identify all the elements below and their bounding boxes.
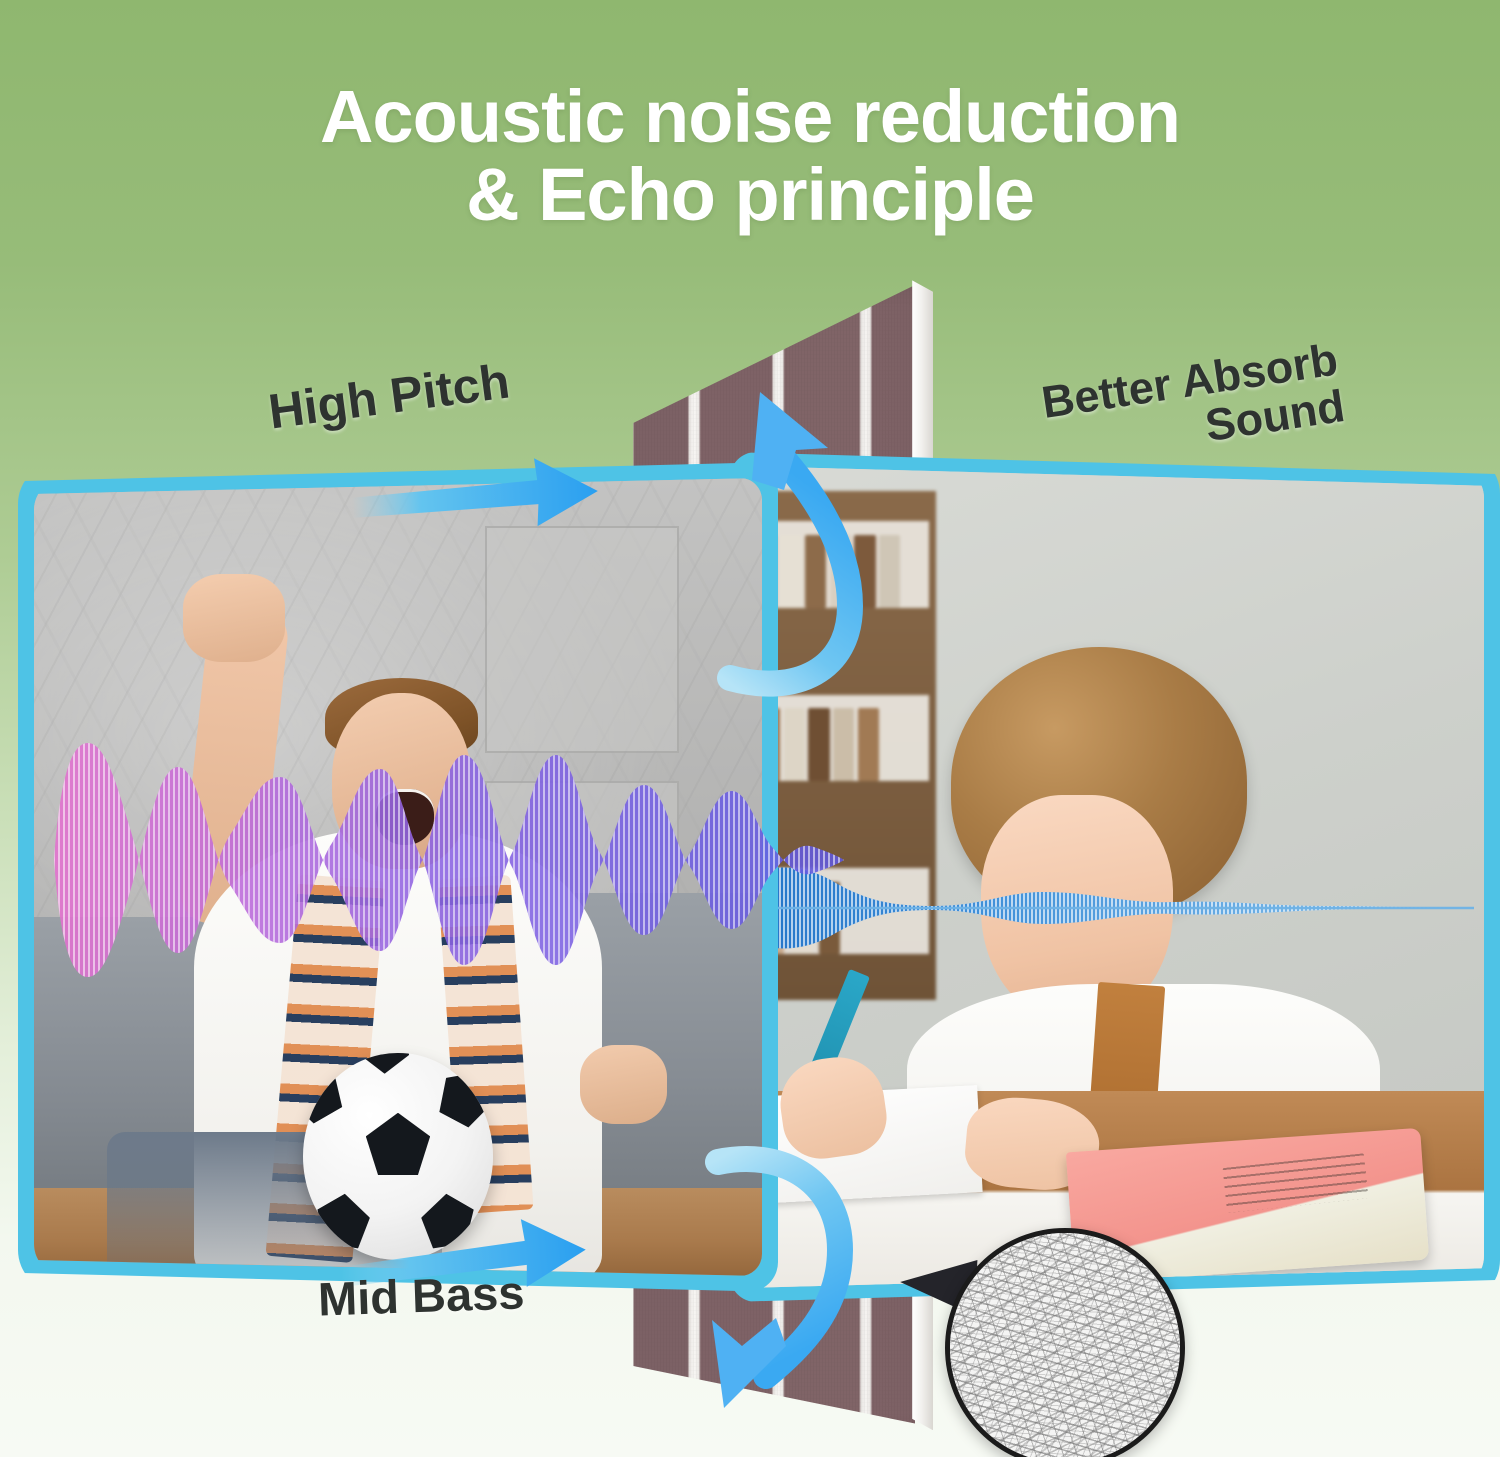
book bbox=[784, 708, 805, 781]
scene-man-cheering bbox=[34, 478, 762, 1276]
polyester-fiber-texture bbox=[945, 1228, 1185, 1457]
book bbox=[808, 708, 829, 781]
book bbox=[780, 535, 801, 608]
ball-panel bbox=[360, 1053, 409, 1074]
book bbox=[830, 535, 851, 608]
title-line-2: & Echo principle bbox=[0, 156, 1500, 234]
book bbox=[791, 882, 812, 955]
ball-panel bbox=[366, 1113, 430, 1175]
wall-art-frame bbox=[485, 526, 678, 753]
book bbox=[879, 535, 900, 608]
page-title: Acoustic noise reduction & Echo principl… bbox=[0, 78, 1500, 235]
infographic-canvas: Acoustic noise reduction & Echo principl… bbox=[0, 0, 1500, 1457]
noisy-man-cheering-photo[interactable] bbox=[18, 462, 778, 1292]
label-high-pitch: High Pitch bbox=[266, 356, 513, 438]
book bbox=[858, 708, 879, 781]
book bbox=[819, 882, 840, 955]
notebook-text-lines bbox=[1222, 1153, 1368, 1212]
soccer-ball bbox=[303, 1053, 492, 1260]
title-line-1: Acoustic noise reduction bbox=[320, 75, 1180, 158]
shelf-row bbox=[752, 695, 929, 782]
man-lower-fist bbox=[580, 1045, 667, 1125]
photo-content-left bbox=[34, 478, 762, 1276]
shelf-row bbox=[752, 521, 929, 608]
scene-boy-studying bbox=[744, 466, 1484, 1288]
book bbox=[833, 708, 854, 781]
shelf-row bbox=[752, 868, 929, 955]
book bbox=[805, 535, 826, 608]
man-raised-fist bbox=[183, 574, 285, 662]
label-mid-bass: Mid Bass bbox=[317, 1268, 525, 1324]
book bbox=[854, 535, 875, 608]
magnifier-circle-icon[interactable] bbox=[945, 1228, 1185, 1457]
quiet-boy-studying-photo[interactable] bbox=[730, 452, 1500, 1302]
photo-content-right bbox=[744, 466, 1484, 1288]
man-open-mouth bbox=[376, 789, 434, 845]
